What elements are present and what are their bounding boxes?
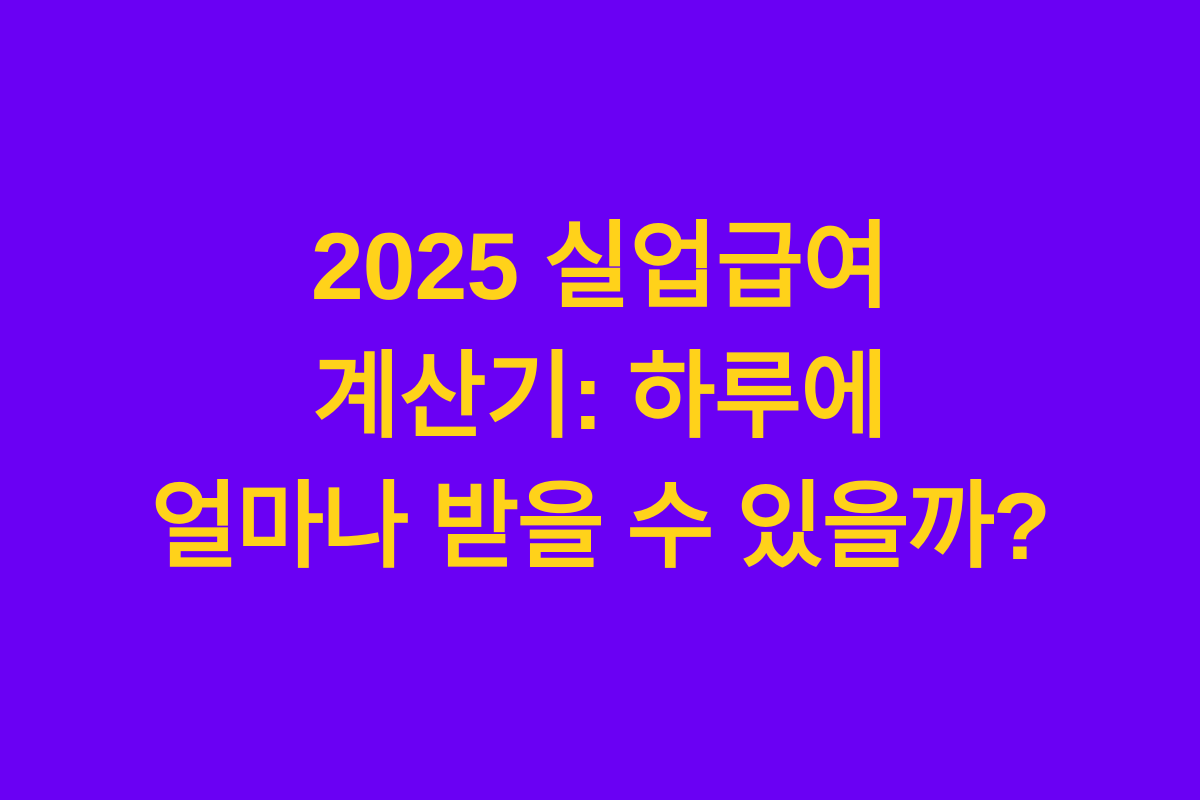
headline-line-1: 2025 실업급여 [8,202,1192,332]
headline-line-3: 얼마나 받을 수 있을까? [8,462,1192,592]
headline-block: 2025 실업급여 계산기: 하루에 얼마나 받을 수 있을까? [0,202,1200,592]
thumbnail-canvas: 2025 실업급여 계산기: 하루에 얼마나 받을 수 있을까? [0,0,1200,800]
headline-line-2: 계산기: 하루에 [8,332,1192,462]
